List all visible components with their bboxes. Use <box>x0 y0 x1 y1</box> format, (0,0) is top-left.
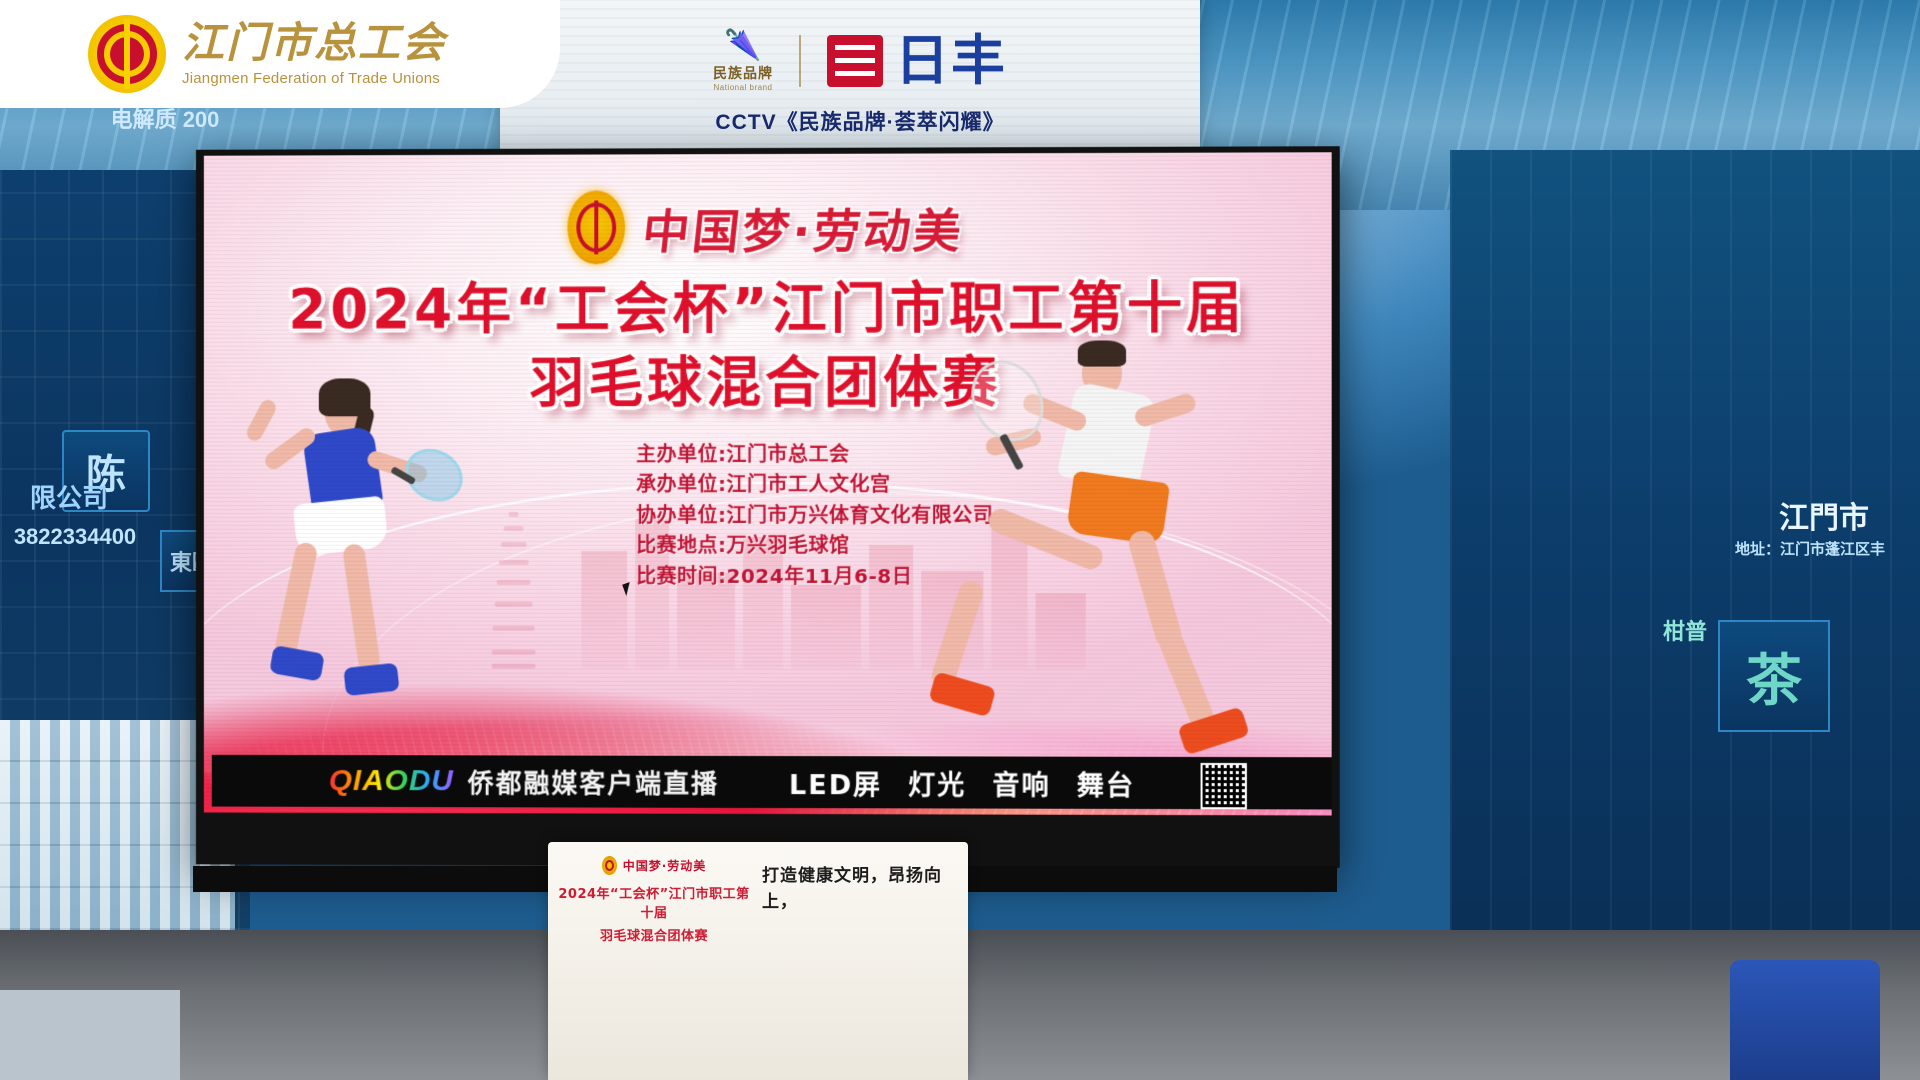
table-sign-title-line2: 羽毛球混合团体赛 <box>558 925 750 944</box>
table-sign-slogan: 中国梦·劳动美 <box>558 856 750 875</box>
slogan-text: 中国梦·劳动美 <box>639 192 967 262</box>
cctv-program-line: CCTV《民族品牌·荟萃闪耀》 <box>560 106 1160 136</box>
left-sign-company: 限公司 <box>4 470 134 522</box>
right-sign-city: 江門市 <box>1754 495 1894 535</box>
union-emblem-icon <box>602 856 617 875</box>
table-sign-slogan-text: 中国梦·劳动美 <box>623 857 707 874</box>
watermark-overlay: 江门市总工会 Jiangmen Federation of Trade Unio… <box>0 0 560 108</box>
watermark-text: 江门市总工会 Jiangmen Federation of Trade Unio… <box>182 22 446 87</box>
sponsor-brand-lockup: 日丰 <box>827 34 1007 88</box>
rifeng-logo-icon <box>827 35 883 87</box>
national-brand-mark: 🌂 民族品牌 National brand <box>713 31 773 92</box>
led-screen-frame: 中国梦·劳动美 2024年“工会杯”江门市职工第十届 羽毛球混合团体赛 主办单位… <box>196 146 1340 868</box>
male-player-graphic <box>929 328 1261 790</box>
service-audio: 音响 <box>992 763 1050 802</box>
qiaodu-brand-latin: QIAODU <box>329 764 454 798</box>
service-lighting: 灯光 <box>908 763 966 802</box>
service-stage: 舞台 <box>1077 763 1135 802</box>
right-sign-city-text: 江門市 <box>1779 493 1869 537</box>
union-emblem-icon <box>88 15 166 93</box>
foreground-chair <box>1730 960 1880 1080</box>
screenshot-root: 🌂 民族品牌 National brand 日丰 CCTV《民族品牌·荟萃闪耀》… <box>0 0 1920 1080</box>
union-emblem-icon <box>567 190 625 264</box>
right-sign-tea-sub-text: 柑普 <box>1663 614 1707 646</box>
table-sign-right: 打造健康文明，昂扬向上， <box>758 842 968 1080</box>
right-sign-tea-sub: 柑普 <box>1650 610 1720 650</box>
right-sign-address: 地址：江门市蓬江区丰 <box>1710 535 1910 561</box>
table-sign-title-line1: 2024年“工会杯”江门市职工第十届 <box>558 883 750 921</box>
sponsor-divider <box>799 35 801 87</box>
pagoda-icon <box>492 509 536 669</box>
led-screen: 中国梦·劳动美 2024年“工会杯”江门市职工第十届 羽毛球混合团体赛 主办单位… <box>204 152 1332 815</box>
foreground-crate <box>0 990 180 1080</box>
left-sign-company-text: 限公司 <box>30 478 108 515</box>
right-sign-tea-text: 茶 <box>1746 636 1802 717</box>
service-led: LED屏 <box>789 763 882 802</box>
qr-code-icon <box>1201 763 1247 809</box>
led-services-list: LED屏 灯光 音响 舞台 <box>789 763 1135 803</box>
right-sign-address-text: 地址：江门市蓬江区丰 <box>1735 538 1885 559</box>
table-sign-left: 中国梦·劳动美 2024年“工会杯”江门市职工第十届 羽毛球混合团体赛 <box>548 842 758 1080</box>
table-sign-motto: 打造健康文明，昂扬向上， <box>762 864 958 915</box>
left-sign-phone: 3822334400 <box>0 520 150 554</box>
right-sign-tea: 茶 <box>1718 620 1830 732</box>
watermark-chinese-name: 江门市总工会 <box>182 22 446 64</box>
watermark-english-name: Jiangmen Federation of Trade Unions <box>182 70 446 87</box>
sponsor-mark-en: National brand <box>713 83 772 92</box>
dragon-icon: 🌂 <box>724 31 761 61</box>
led-bottom-bar: QIAODU 侨都融媒客户端直播 LED屏 灯光 音响 舞台 <box>212 755 1332 810</box>
left-sign-phone-text: 3822334400 <box>14 524 136 550</box>
sponsor-board: 🌂 民族品牌 National brand 日丰 CCTV《民族品牌·荟萃闪耀》 <box>560 18 1160 168</box>
table-sign: 中国梦·劳动美 2024年“工会杯”江门市职工第十届 羽毛球混合团体赛 打造健康… <box>548 842 968 1080</box>
sponsor-mark-cn: 民族品牌 <box>713 63 773 83</box>
qiaodu-brand-cn: 侨都融媒客户端直播 <box>468 763 719 801</box>
sponsor-brand-name: 日丰 <box>895 34 1007 88</box>
female-player-graphic <box>234 354 482 773</box>
slogan-lockup: 中国梦·劳动美 <box>204 188 1332 265</box>
